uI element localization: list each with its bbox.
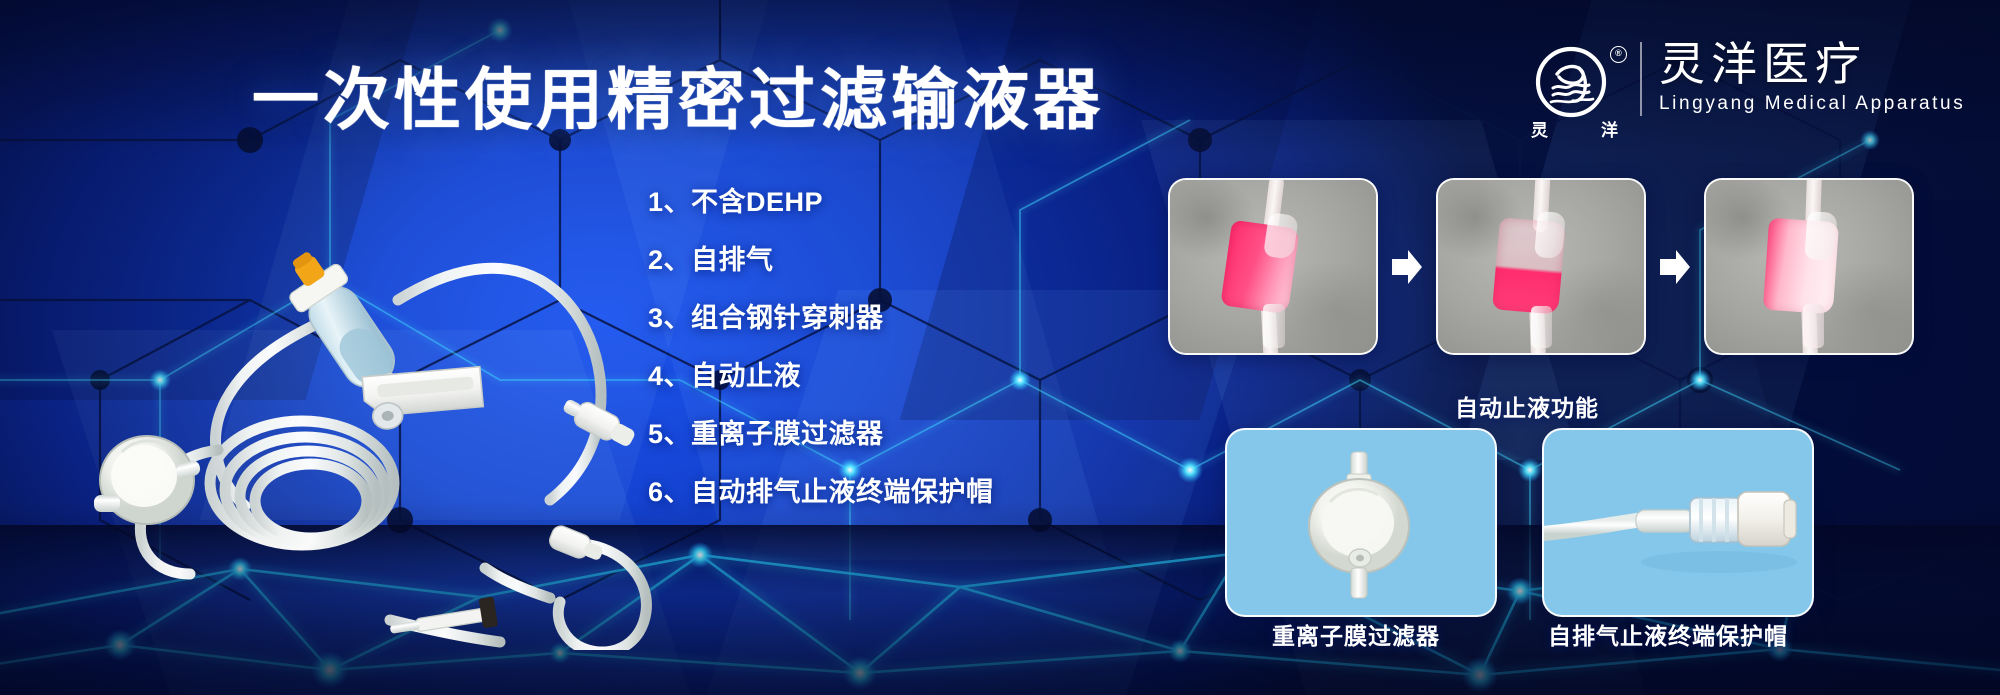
component-cards xyxy=(1225,428,1814,617)
product-photo-infusion-set xyxy=(30,150,680,650)
lingyang-emblem-icon: ® 灵 洋 xyxy=(1527,38,1623,134)
company-name-en: Lingyang Medical Apparatus xyxy=(1659,93,1965,115)
feature-list: 1、不含DEHP 2、自排气 3、组合钢针穿刺器 4、自动止液 5、重离子膜过滤… xyxy=(648,173,994,521)
feature-item-4: 4、自动止液 xyxy=(648,347,994,405)
company-name-cn: 灵洋医疗 xyxy=(1659,40,1965,88)
auto-stop-sequence xyxy=(1168,178,1914,355)
sequence-photo-3 xyxy=(1704,178,1914,355)
logo-divider xyxy=(1640,42,1642,116)
caption-auto-stop: 自动止液功能 xyxy=(1455,389,1599,423)
registered-trademark-icon: ® xyxy=(1610,46,1627,63)
feature-item-3: 3、组合钢针穿刺器 xyxy=(648,289,994,347)
emblem-char-left: 灵 xyxy=(1531,116,1549,141)
brand-logo: ® 灵 洋 灵洋医疗 Lingyang Medical Apparatus xyxy=(1527,38,1965,134)
caption-terminal-cap: 自排气止液终端保护帽 xyxy=(1548,617,1788,651)
page-title: 一次性使用精密过滤输液器 xyxy=(252,46,1104,143)
feature-item-5: 5、重离子膜过滤器 xyxy=(648,405,994,463)
sequence-photo-1 xyxy=(1168,178,1378,355)
emblem-char-right: 洋 xyxy=(1601,116,1619,141)
feature-item-2: 2、自排气 xyxy=(648,231,994,289)
product-banner: 一次性使用精密过滤输液器 ® 灵 洋 灵洋医疗 Lingyang Medical… xyxy=(0,0,2000,695)
emblem-subtext: 灵 洋 xyxy=(1527,116,1623,141)
card-terminal-cap xyxy=(1542,428,1814,617)
arrow-right-icon-2 xyxy=(1658,247,1692,287)
arrow-right-icon-1 xyxy=(1390,247,1424,287)
filter-disc xyxy=(94,436,202,524)
card-heavy-ion-filter xyxy=(1225,428,1497,617)
roller-clamp xyxy=(362,367,484,431)
caption-heavy-ion-filter: 重离子膜过滤器 xyxy=(1272,617,1440,651)
sequence-photo-2 xyxy=(1436,178,1646,355)
feature-item-6: 6、自动排气止液终端保护帽 xyxy=(648,463,994,521)
feature-item-1: 1、不含DEHP xyxy=(648,173,994,231)
